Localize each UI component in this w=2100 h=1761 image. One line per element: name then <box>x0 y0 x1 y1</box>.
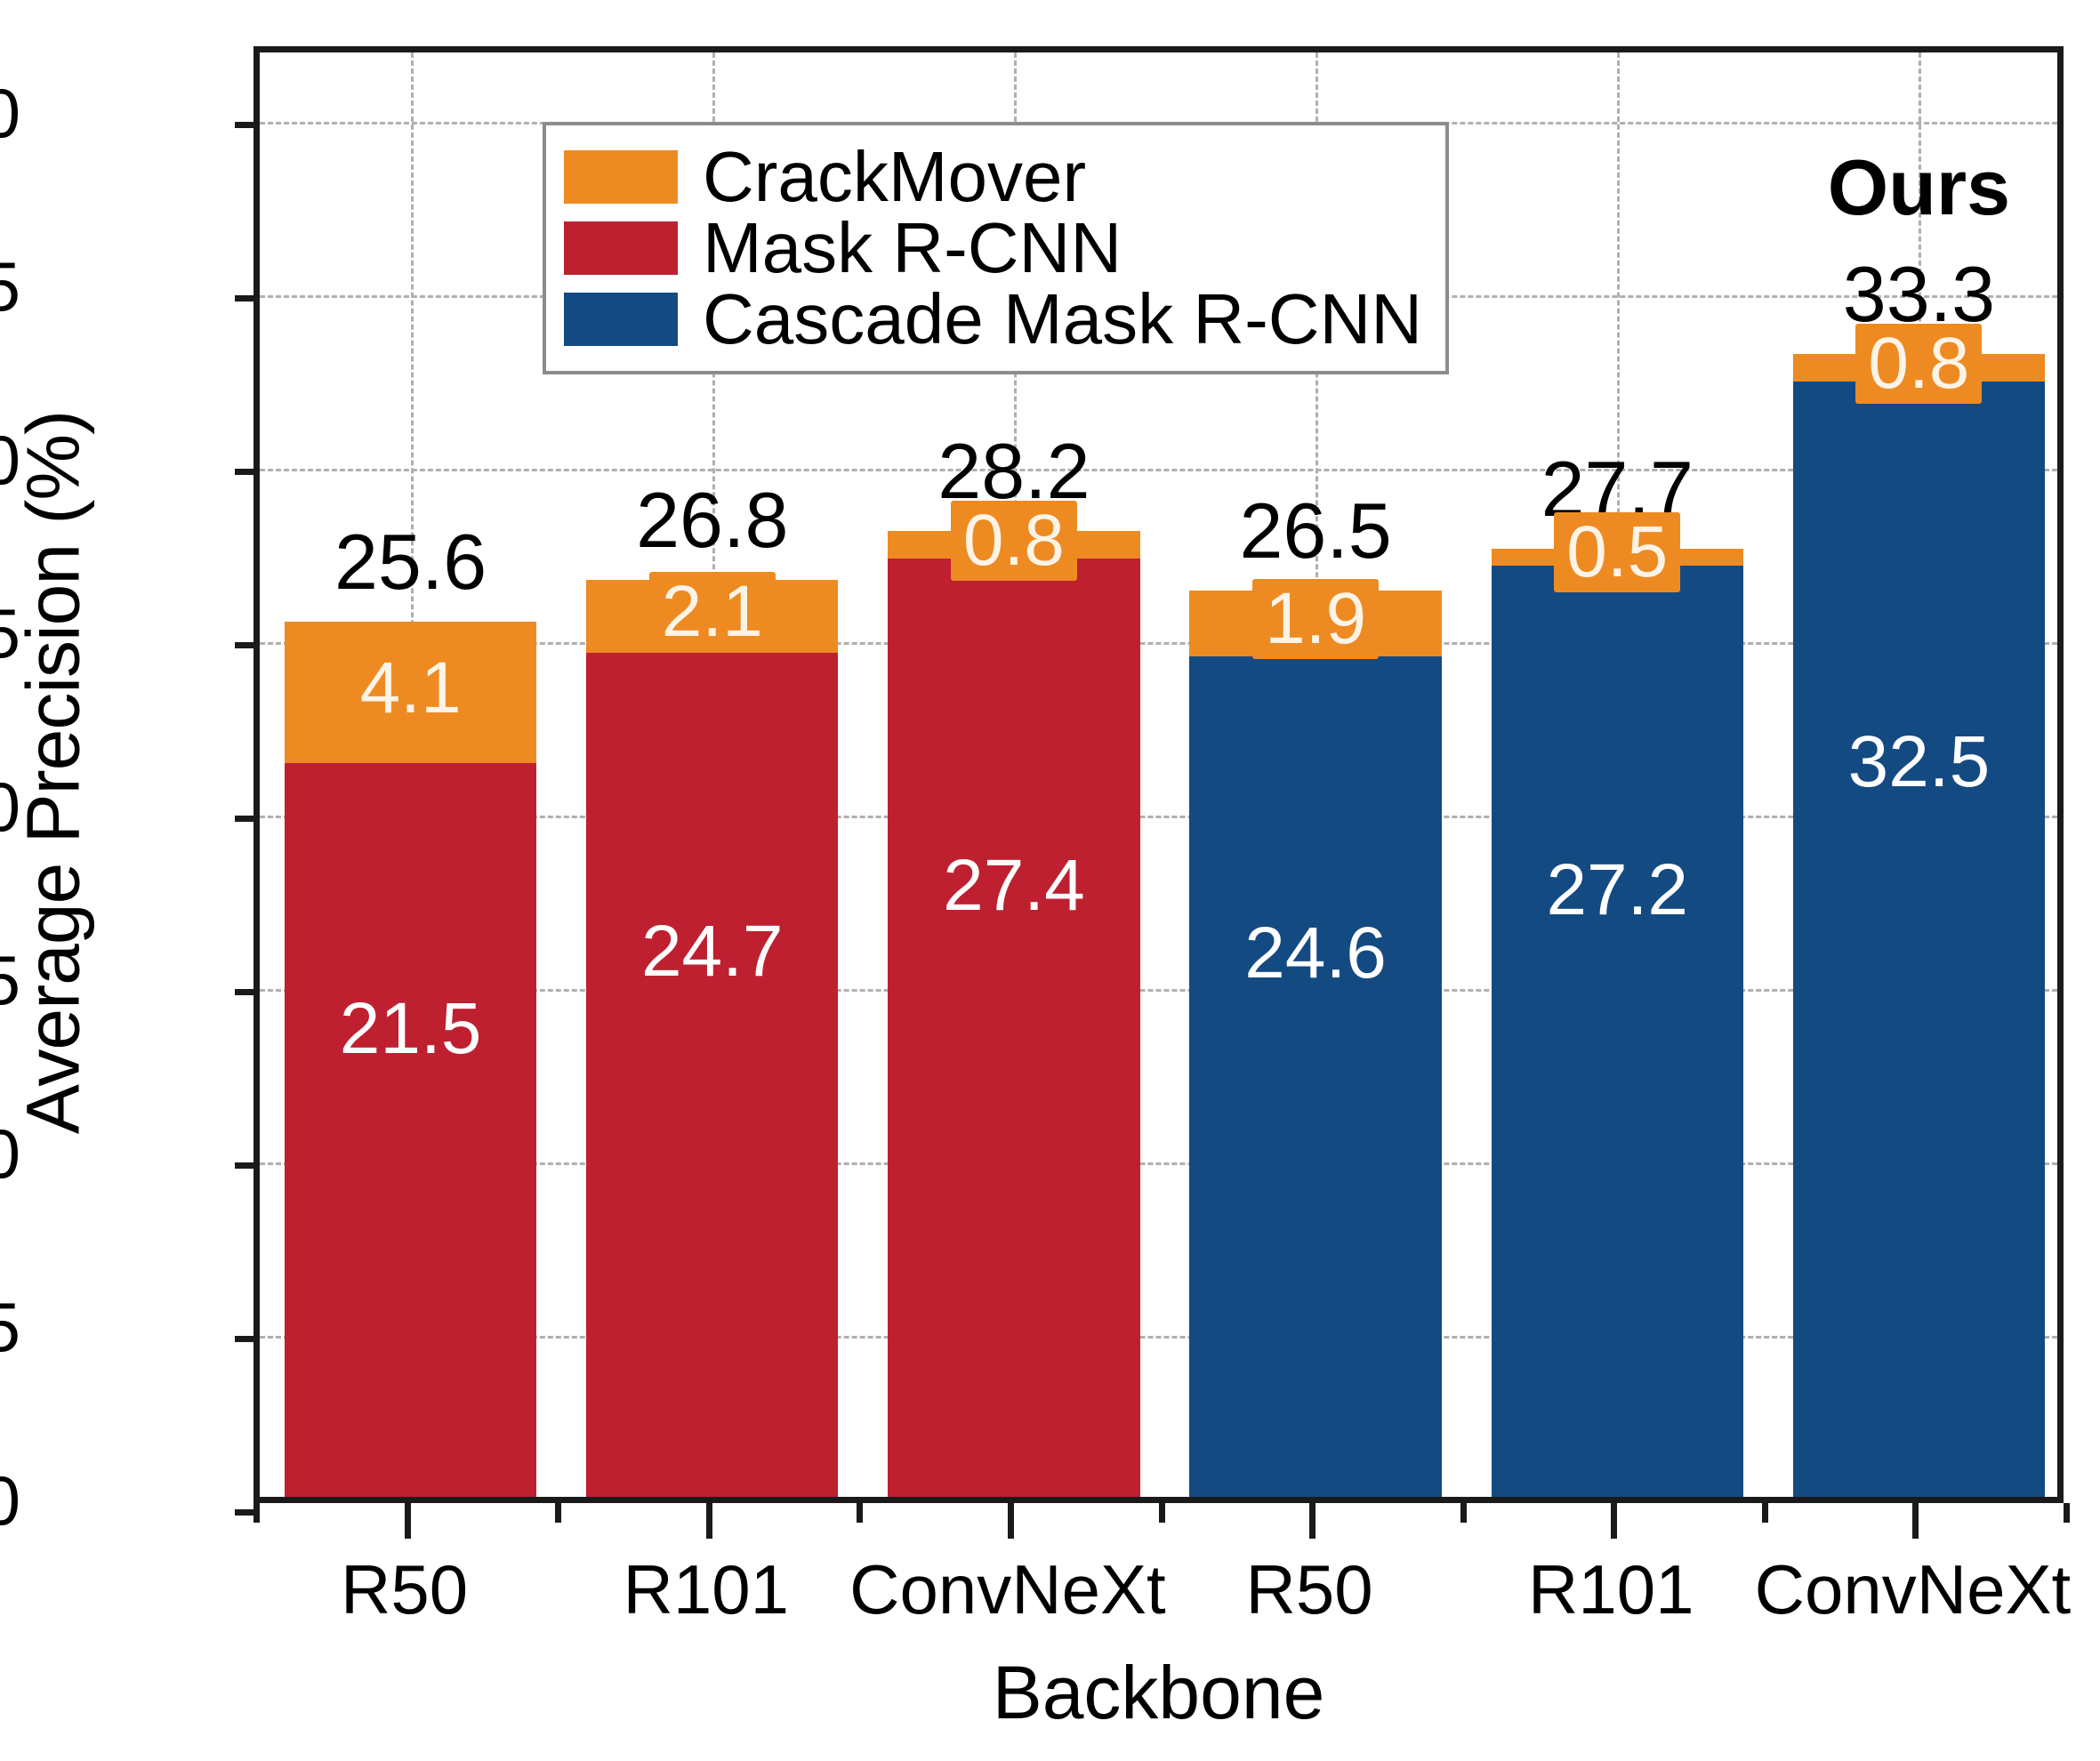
legend-swatch-icon <box>564 293 678 346</box>
bar-crackmover-value-label: 1.9 <box>1252 579 1379 659</box>
x-axis-minor-tick-mark <box>1762 1503 1768 1523</box>
x-axis-tick-mark <box>1008 1503 1014 1539</box>
y-axis-tick-label: 35 <box>0 246 20 327</box>
y-axis-tick-mark <box>235 122 260 128</box>
bar-segment-base[interactable] <box>285 752 536 1498</box>
x-axis-title: Backbone <box>253 1650 2064 1736</box>
y-axis-tick-mark <box>235 1509 260 1516</box>
bar-total-label: 25.6 <box>334 517 487 607</box>
y-axis-tick-label: 0 <box>0 1460 20 1541</box>
bar-base-value-label: 24.6 <box>1244 912 1387 995</box>
bar-base-value-label: 24.7 <box>641 910 784 993</box>
x-axis-tick-label-r101: R101 <box>624 1549 789 1630</box>
y-axis-tick-mark <box>235 1336 260 1342</box>
bar-total-label: 26.8 <box>636 475 788 566</box>
x-axis-minor-tick-mark <box>2064 1503 2070 1523</box>
legend-swatch-icon <box>564 221 678 275</box>
legend-item-label: CrackMover <box>703 141 1086 213</box>
bar-segment-base[interactable] <box>1793 370 2045 1498</box>
y-axis-tick-mark <box>235 469 260 475</box>
legend-item-label: Mask R-CNN <box>703 213 1122 284</box>
x-axis-minor-tick-mark <box>857 1503 863 1523</box>
y-axis-tick-label: 15 <box>0 940 20 1021</box>
bar-crackmover-value-label: 0.8 <box>1855 324 1982 404</box>
x-axis-minor-tick-mark <box>1460 1503 1467 1523</box>
y-axis-tick-label: 20 <box>0 767 20 848</box>
y-axis-tick-mark <box>235 989 260 995</box>
bar-segment-base[interactable] <box>1189 644 1441 1497</box>
bar-segment-base[interactable] <box>1492 553 1743 1497</box>
x-axis-tick-mark <box>1611 1503 1617 1539</box>
x-axis-tick-mark <box>706 1503 712 1539</box>
x-axis-tick-mark <box>1309 1503 1316 1539</box>
bar-base-value-label: 32.5 <box>1848 720 1991 804</box>
x-axis-tick-label-r101: R101 <box>1528 1549 1694 1630</box>
y-axis-tick-label: 25 <box>0 593 20 674</box>
legend-item-1[interactable]: Mask R-CNN <box>564 213 1422 284</box>
y-axis-tick-label: 40 <box>0 73 20 154</box>
x-axis-minor-tick-mark <box>1159 1503 1165 1523</box>
y-axis-tick-label: 30 <box>0 420 20 501</box>
legend-item-label: Cascade Mask R-CNN <box>703 284 1422 355</box>
chart-figure: Average Precision (%) Backbone 051015202… <box>0 0 2100 1761</box>
x-axis-tick-label-convnext: ConvNeXt <box>1755 1549 2072 1630</box>
x-axis-tick-mark <box>1912 1503 1919 1539</box>
y-axis-tick-label: 10 <box>0 1114 20 1194</box>
legend-item-2[interactable]: Cascade Mask R-CNN <box>564 284 1422 355</box>
bar-base-value-label: 27.2 <box>1546 848 1688 932</box>
y-axis-title: Average Precision (%) <box>11 373 97 1173</box>
plot-area: 25.621.54.126.824.72.128.227.40.826.524.… <box>253 46 2064 1503</box>
bar-crackmover-value-label: 2.1 <box>649 572 776 652</box>
x-axis-tick-label-r50: R50 <box>1246 1549 1373 1630</box>
legend-item-0[interactable]: CrackMover <box>564 141 1422 213</box>
legend-swatch-icon <box>564 150 678 204</box>
bar-segment-base[interactable] <box>586 640 838 1497</box>
y-axis-tick-mark <box>235 642 260 648</box>
bar-segment-base[interactable] <box>888 546 1139 1497</box>
chart-legend[interactable]: CrackMoverMask R-CNNCascade Mask R-CNN <box>543 122 1449 374</box>
bar-crackmover-value-label: 0.5 <box>1554 512 1680 592</box>
y-axis-tick-mark <box>235 1162 260 1169</box>
x-axis-tick-label-r50: R50 <box>341 1549 468 1630</box>
x-axis-minor-tick-mark <box>555 1503 561 1523</box>
y-axis-tick-mark <box>235 816 260 822</box>
bar-crackmover-value-label: 0.8 <box>951 501 1077 581</box>
annotation-ours: Ours <box>1828 142 2010 233</box>
x-axis-tick-label-convnext: ConvNeXt <box>849 1549 1166 1630</box>
x-axis-tick-mark <box>405 1503 411 1539</box>
bar-base-value-label: 27.4 <box>943 844 1085 928</box>
y-axis-tick-label: 5 <box>0 1287 20 1368</box>
horizontal-gridline <box>260 469 2057 471</box>
bar-base-value-label: 21.5 <box>340 987 482 1071</box>
y-axis-tick-mark <box>235 295 260 302</box>
bar-crackmover-value-label: 4.1 <box>348 648 474 728</box>
bar-total-label: 26.5 <box>1239 486 1391 576</box>
